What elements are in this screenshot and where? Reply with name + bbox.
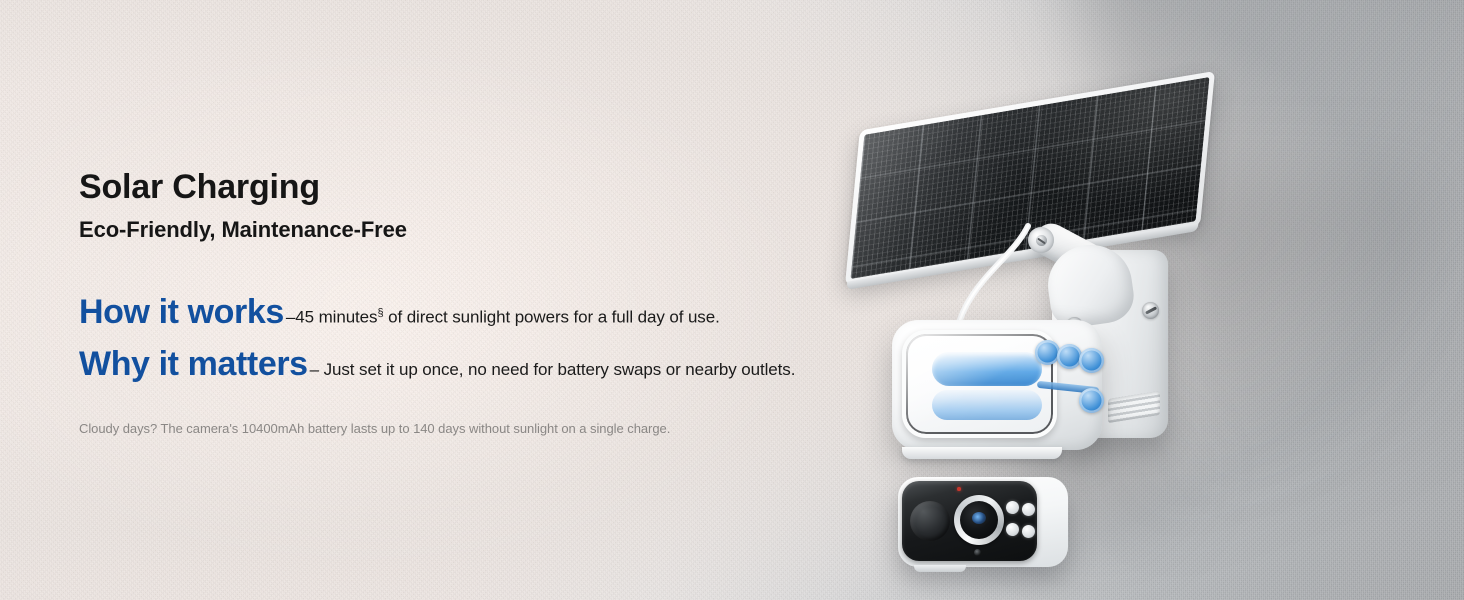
- feature-point-why-it-matters: Why it matters – Just set it up once, no…: [79, 347, 795, 381]
- camera-head-foot: [914, 565, 966, 572]
- feature-description: – Just set it up once, no need for batte…: [310, 361, 796, 378]
- camera-front-face: [902, 481, 1037, 561]
- feature-text-before: 45 minutes: [295, 308, 377, 327]
- battery-cell-end: [1057, 344, 1082, 369]
- feature-lead-label: Why it matters: [79, 347, 308, 381]
- feature-text-before: Just set it up once, no need for battery…: [319, 360, 795, 379]
- solar-charging-banner: Solar Charging Eco-Friendly, Maintenance…: [0, 0, 1464, 600]
- battery-cell-end: [1079, 348, 1104, 373]
- feature-description: –45 minutes§ of direct sunlight powers f…: [286, 308, 720, 326]
- arm-pivot-screw: [1036, 235, 1047, 246]
- ir-led: [1006, 523, 1019, 536]
- infrared-led-array: [1006, 501, 1036, 541]
- cutaway-glass-reflection: [906, 334, 1053, 434]
- lens-glint: [972, 512, 986, 524]
- housing-lower-lip: [902, 447, 1062, 459]
- feature-point-how-it-works: How it works –45 minutes§ of direct sunl…: [79, 295, 720, 329]
- ir-led: [1022, 503, 1035, 516]
- battery-cell-ends: [1035, 340, 1101, 436]
- mount-screw: [1142, 302, 1159, 319]
- feature-dash: –: [286, 308, 295, 327]
- microphone-hole: [974, 549, 981, 556]
- status-led-red: [957, 487, 961, 491]
- feature-text-after: of direct sunlight powers for a full day…: [383, 308, 719, 327]
- ir-led: [1006, 501, 1019, 514]
- disclaimer-footnote: Cloudy days? The camera's 10400mAh batte…: [79, 421, 670, 436]
- battery-compartment-cutaway: [902, 330, 1057, 438]
- product-image-solar-camera: [840, 95, 1240, 575]
- page-title: Solar Charging: [79, 168, 320, 207]
- pir-motion-sensor: [910, 501, 950, 541]
- battery-cell-end: [1079, 388, 1104, 413]
- page-subtitle: Eco-Friendly, Maintenance-Free: [79, 217, 407, 243]
- ir-led: [1022, 525, 1035, 538]
- battery-cell-end: [1035, 340, 1060, 365]
- feature-lead-label: How it works: [79, 295, 284, 329]
- feature-dash: –: [310, 360, 319, 379]
